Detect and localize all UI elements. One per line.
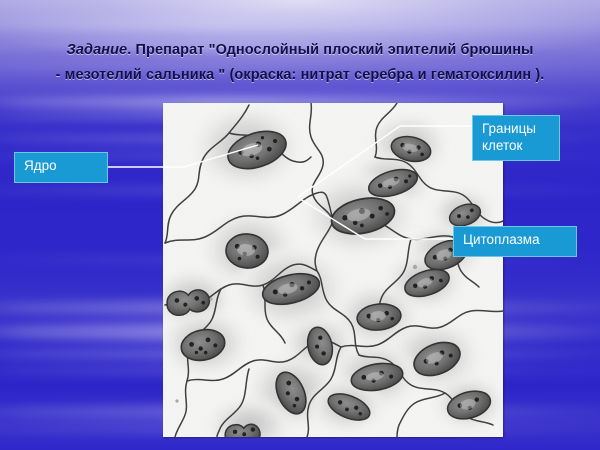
callout-cytoplasm[interactable]: Цитоплазма bbox=[453, 226, 577, 257]
title-emphasis: Задание bbox=[66, 42, 127, 58]
slide-title: Задание. Препарат "Однослойный плоский э… bbox=[0, 38, 600, 88]
background-streak bbox=[0, 16, 600, 32]
title-line-1: . Препарат "Однослойный плоский эпителий… bbox=[127, 42, 533, 58]
title-line-2: - мезотелий сальника " (окраска: нитрат … bbox=[0, 63, 600, 88]
callout-nucleus[interactable]: Ядро bbox=[14, 152, 108, 183]
callout-cell-borders[interactable]: Границы клеток bbox=[472, 115, 560, 161]
micrograph-panel bbox=[163, 103, 503, 437]
presentation-slide: Задание. Препарат "Однослойный плоский э… bbox=[0, 0, 600, 450]
micrograph-image bbox=[163, 103, 503, 437]
